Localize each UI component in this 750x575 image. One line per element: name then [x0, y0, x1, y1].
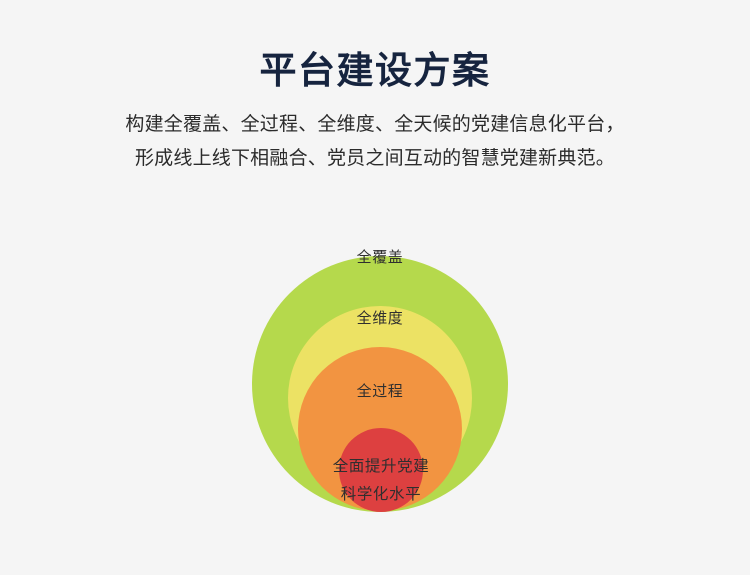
ring-label-second: 全维度	[357, 309, 404, 327]
slide-canvas: 平台建设方案 构建全覆盖、全过程、全维度、全天候的党建信息化平台， 形成线上线下…	[0, 0, 750, 575]
nested-circles-diagram: 全覆盖 全维度 全过程 全面提升党建 科学化水平	[0, 0, 750, 575]
ring-label-core-line-1: 全面提升党建	[333, 457, 430, 475]
ring-label-outer: 全覆盖	[357, 248, 404, 266]
ring-label-core-line-2: 科学化水平	[341, 485, 422, 503]
ring-label-third: 全过程	[357, 382, 404, 400]
